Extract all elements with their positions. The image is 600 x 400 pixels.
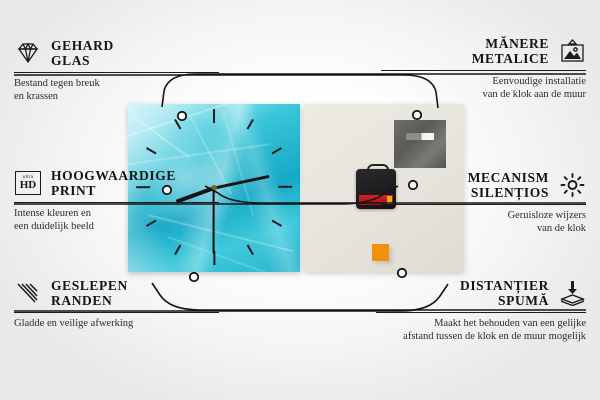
feature-title: HOOGWAARDIGEPRINT bbox=[51, 168, 176, 198]
metal-hanger bbox=[394, 120, 446, 168]
feature-description: Intense kleuren eneen duidelijk beeld bbox=[14, 207, 224, 233]
feature-manere-metalice: MĂNEREMETALICE Eenvoudige installatievan… bbox=[376, 36, 586, 101]
feature-header: GEHARDGLAS bbox=[14, 38, 224, 68]
feature-rule bbox=[381, 70, 586, 71]
feature-geslepen-randen: GESLEPENRANDEN Gladde en veilige afwerki… bbox=[14, 278, 224, 330]
feature-description: Gladde en veilige afwerking bbox=[14, 317, 224, 330]
feature-rule bbox=[376, 312, 586, 313]
feature-description: Bestand tegen breuken krassen bbox=[14, 77, 224, 103]
feature-title: MECANISMSILENȚIOS bbox=[468, 170, 549, 200]
hanger-slot bbox=[406, 133, 434, 140]
foam-spacer bbox=[372, 244, 389, 261]
feature-header: MECANISMSILENȚIOS bbox=[376, 170, 586, 200]
clock-tick bbox=[213, 109, 215, 123]
feature-gehard-glas: GEHARDGLAS Bestand tegen breuken krassen bbox=[14, 38, 224, 103]
diamond-icon bbox=[14, 39, 42, 67]
feature-header: GESLEPENRANDEN bbox=[14, 278, 224, 308]
feature-header: MĂNEREMETALICE bbox=[376, 36, 586, 66]
beveled-edges-icon bbox=[14, 279, 42, 307]
feature-hoogwaardige-print: ultra HD HOOGWAARDIGEPRINT Intense kleur… bbox=[14, 168, 224, 233]
wall-frame-icon bbox=[558, 37, 586, 65]
feature-rule bbox=[381, 204, 586, 205]
feature-header: ultra HD HOOGWAARDIGEPRINT bbox=[14, 168, 224, 198]
clock-tick bbox=[278, 186, 292, 188]
feature-title: GESLEPENRANDEN bbox=[51, 278, 128, 308]
feature-title: MĂNEREMETALICE bbox=[472, 36, 549, 66]
feature-rule bbox=[14, 72, 219, 73]
feature-description: Geruisloze wijzersvan de klok bbox=[376, 209, 586, 235]
feature-description: Eenvoudige installatievan de klok aan de… bbox=[376, 75, 586, 101]
gear-icon bbox=[558, 171, 586, 199]
feature-rule bbox=[14, 312, 219, 313]
feature-distantier-spuma: DISTANȚIERSPUMĂ Maakt het behouden van e… bbox=[371, 278, 586, 343]
feature-mecanism-silentios: MECANISMSILENȚIOS Geruisloze wijzersvan … bbox=[376, 170, 586, 235]
feature-title: DISTANȚIERSPUMĂ bbox=[460, 278, 549, 308]
feature-description: Maakt het behouden van een gelijkeafstan… bbox=[371, 317, 586, 343]
feature-title: GEHARDGLAS bbox=[51, 38, 114, 68]
feature-header: DISTANȚIERSPUMĂ bbox=[371, 278, 586, 308]
feature-rule bbox=[14, 202, 219, 203]
spacer-stack-icon bbox=[558, 279, 586, 307]
infographic-canvas: GEHARDGLAS Bestand tegen breuken krassen… bbox=[0, 0, 600, 400]
ultra-hd-icon: ultra HD bbox=[14, 169, 42, 197]
